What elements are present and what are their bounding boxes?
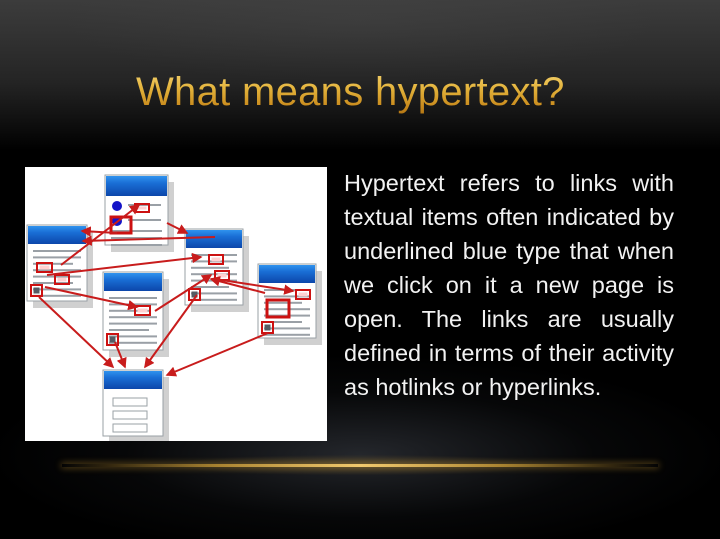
link-highlight-fill: [138, 309, 148, 313]
page-text-line: [191, 292, 237, 294]
anchor-icon-glyph: [265, 325, 271, 331]
page-header-bar: [104, 273, 162, 291]
accent-rule: [62, 464, 658, 467]
page-header-bar: [186, 230, 242, 248]
page-text-line: [128, 219, 161, 221]
presentation-slide: What means hypertext? Hypertext refers t…: [0, 0, 720, 539]
slide-title: What means hypertext?: [136, 67, 596, 117]
page-text-line: [264, 327, 310, 329]
page-form-field: [113, 411, 147, 419]
anchor-icon-glyph: [110, 337, 116, 343]
page-header-bar: [259, 265, 315, 283]
page-text-line: [109, 335, 157, 337]
slide-body-text: Hypertext refers to links with textual i…: [344, 166, 674, 404]
page-form-field: [113, 424, 147, 432]
page-text-line: [109, 323, 157, 325]
page-text-line: [264, 308, 310, 310]
link-arrow: [167, 333, 268, 375]
page-text-line: [111, 244, 162, 246]
page-bullet-dot: [112, 201, 122, 211]
slide-picture-frame: [25, 167, 327, 441]
page-text-line: [264, 302, 302, 304]
page-text-line: [191, 286, 229, 288]
page-form-field: [113, 398, 147, 406]
page-text-line: [109, 316, 157, 318]
page-text-line: [109, 297, 157, 299]
page-header-bar: [104, 371, 162, 389]
page-header-bar: [106, 176, 167, 196]
anchor-icon-glyph: [34, 288, 40, 294]
hypertext-link-network-diagram: [25, 167, 327, 441]
diagram-pages-layer: [27, 175, 322, 441]
page-text-line: [109, 329, 149, 331]
document-page-center: [103, 272, 169, 357]
link-highlight-fill: [299, 293, 308, 297]
link-highlight-fill: [212, 258, 221, 262]
page-text-line: [264, 334, 310, 336]
link-highlight-fill: [58, 278, 67, 282]
page-text-line: [33, 250, 81, 252]
document-page-bottom: [103, 370, 169, 441]
page-text-line: [191, 267, 229, 269]
link-highlight-fill: [138, 207, 147, 210]
link-highlight-fill: [218, 274, 227, 278]
page-header-bar: [28, 226, 86, 244]
page-text-line: [33, 256, 81, 258]
link-highlight-fill: [40, 266, 50, 270]
